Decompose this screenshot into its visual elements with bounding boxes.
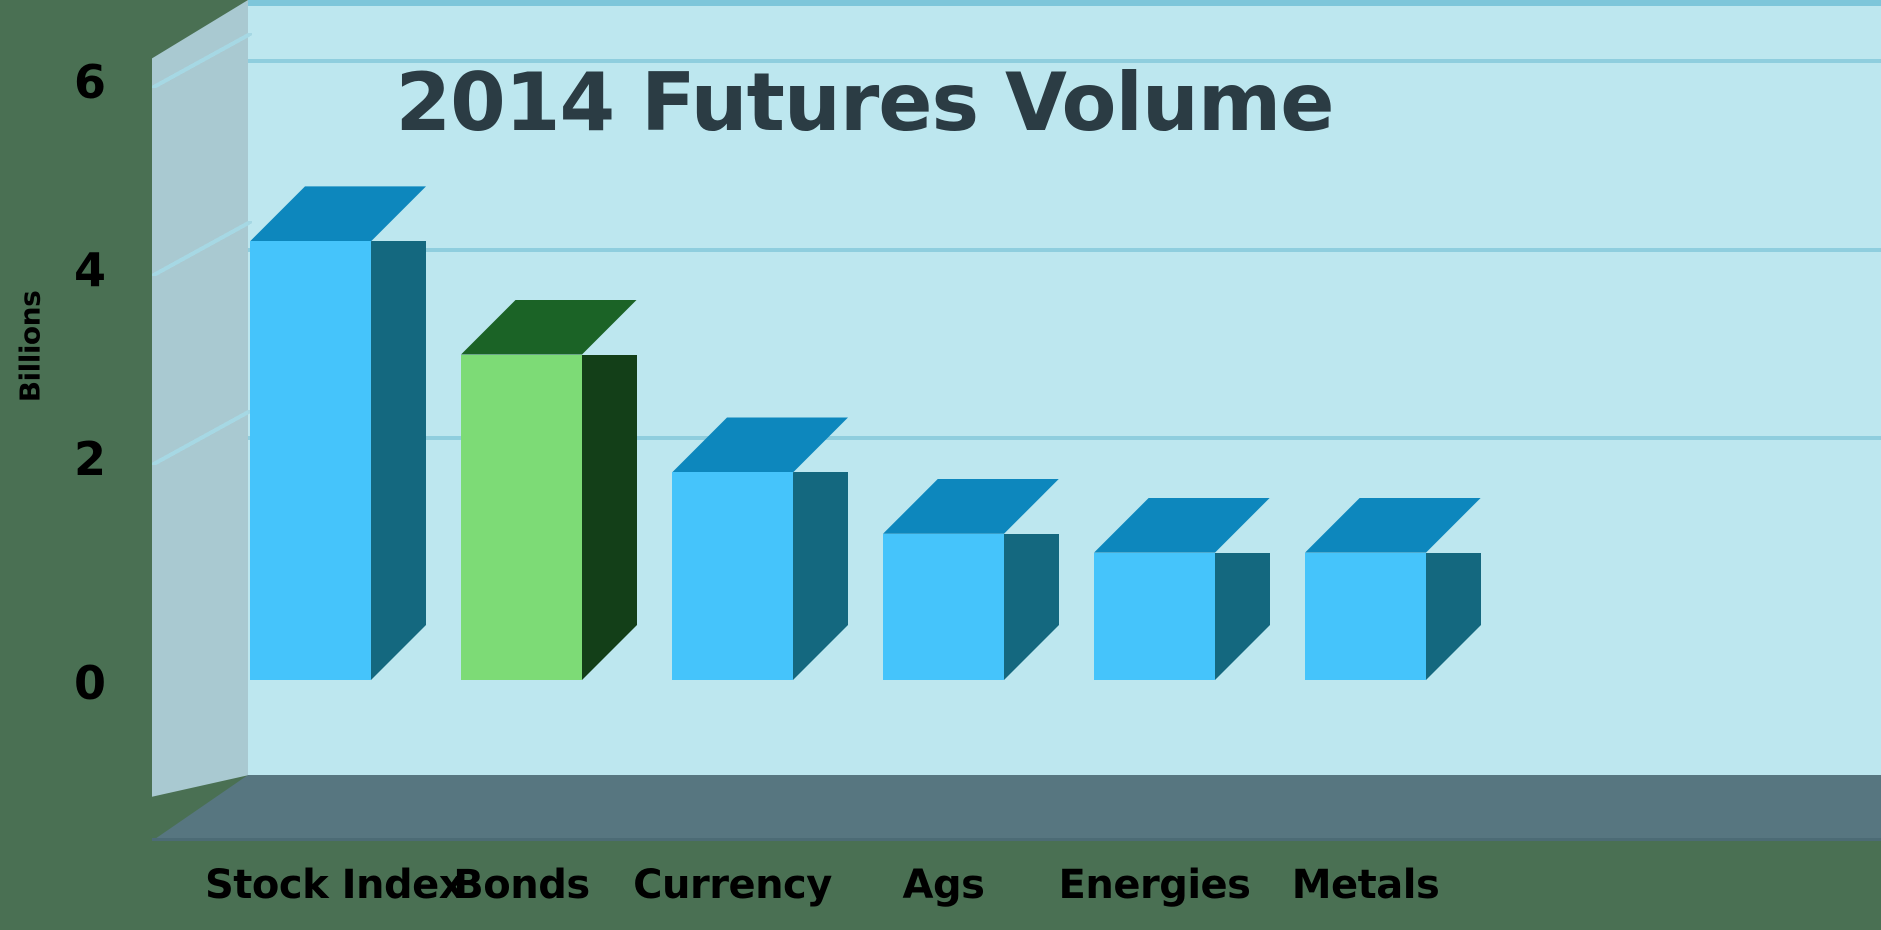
bar-front-face <box>1094 553 1215 680</box>
x-axis-label-bonds: Bonds <box>416 862 627 908</box>
x-axis-label-metals: Metals <box>1260 862 1471 908</box>
x-axis-label-energies: Energies <box>1049 862 1260 908</box>
y-axis-tick-2: 2 <box>20 436 106 482</box>
bar-front-face <box>461 355 582 680</box>
chart-canvas: 6420 Billions 2014 Futures Volume Stock … <box>0 0 1881 930</box>
bar-front-face <box>672 472 793 680</box>
gridline-left-wall-2 <box>152 410 252 465</box>
bar-ags[interactable] <box>883 534 1004 680</box>
y-axis-title: Billions <box>14 272 47 422</box>
plot-floor-front-edge <box>152 838 1881 841</box>
bar-stock-index[interactable] <box>250 241 371 680</box>
gridline-left-wall-4 <box>152 221 252 276</box>
bar-side-face <box>371 241 426 680</box>
y-axis-tick-6: 6 <box>20 59 106 105</box>
bar-energies[interactable] <box>1094 553 1215 680</box>
gridline-left-wall-6 <box>152 33 252 88</box>
bar-bonds[interactable] <box>461 355 582 680</box>
bar-side-face <box>582 355 637 680</box>
bar-currency[interactable] <box>672 472 793 680</box>
chart-title: 2014 Futures Volume <box>248 56 1881 149</box>
x-axis-label-ags: Ags <box>838 862 1049 908</box>
bar-front-face <box>1305 553 1426 680</box>
plot-floor <box>152 775 1881 841</box>
x-axis-label-currency: Currency <box>627 862 838 908</box>
gridline-4 <box>248 248 1881 252</box>
plot-left-wall <box>152 0 248 800</box>
x-axis-label-stock-index: Stock Index <box>205 862 416 908</box>
bar-front-face <box>250 241 371 680</box>
y-axis-tick-0: 0 <box>20 660 106 706</box>
bar-front-face <box>883 534 1004 680</box>
bar-metals[interactable] <box>1305 553 1426 680</box>
plot-back-wall-top-edge <box>248 0 1881 6</box>
